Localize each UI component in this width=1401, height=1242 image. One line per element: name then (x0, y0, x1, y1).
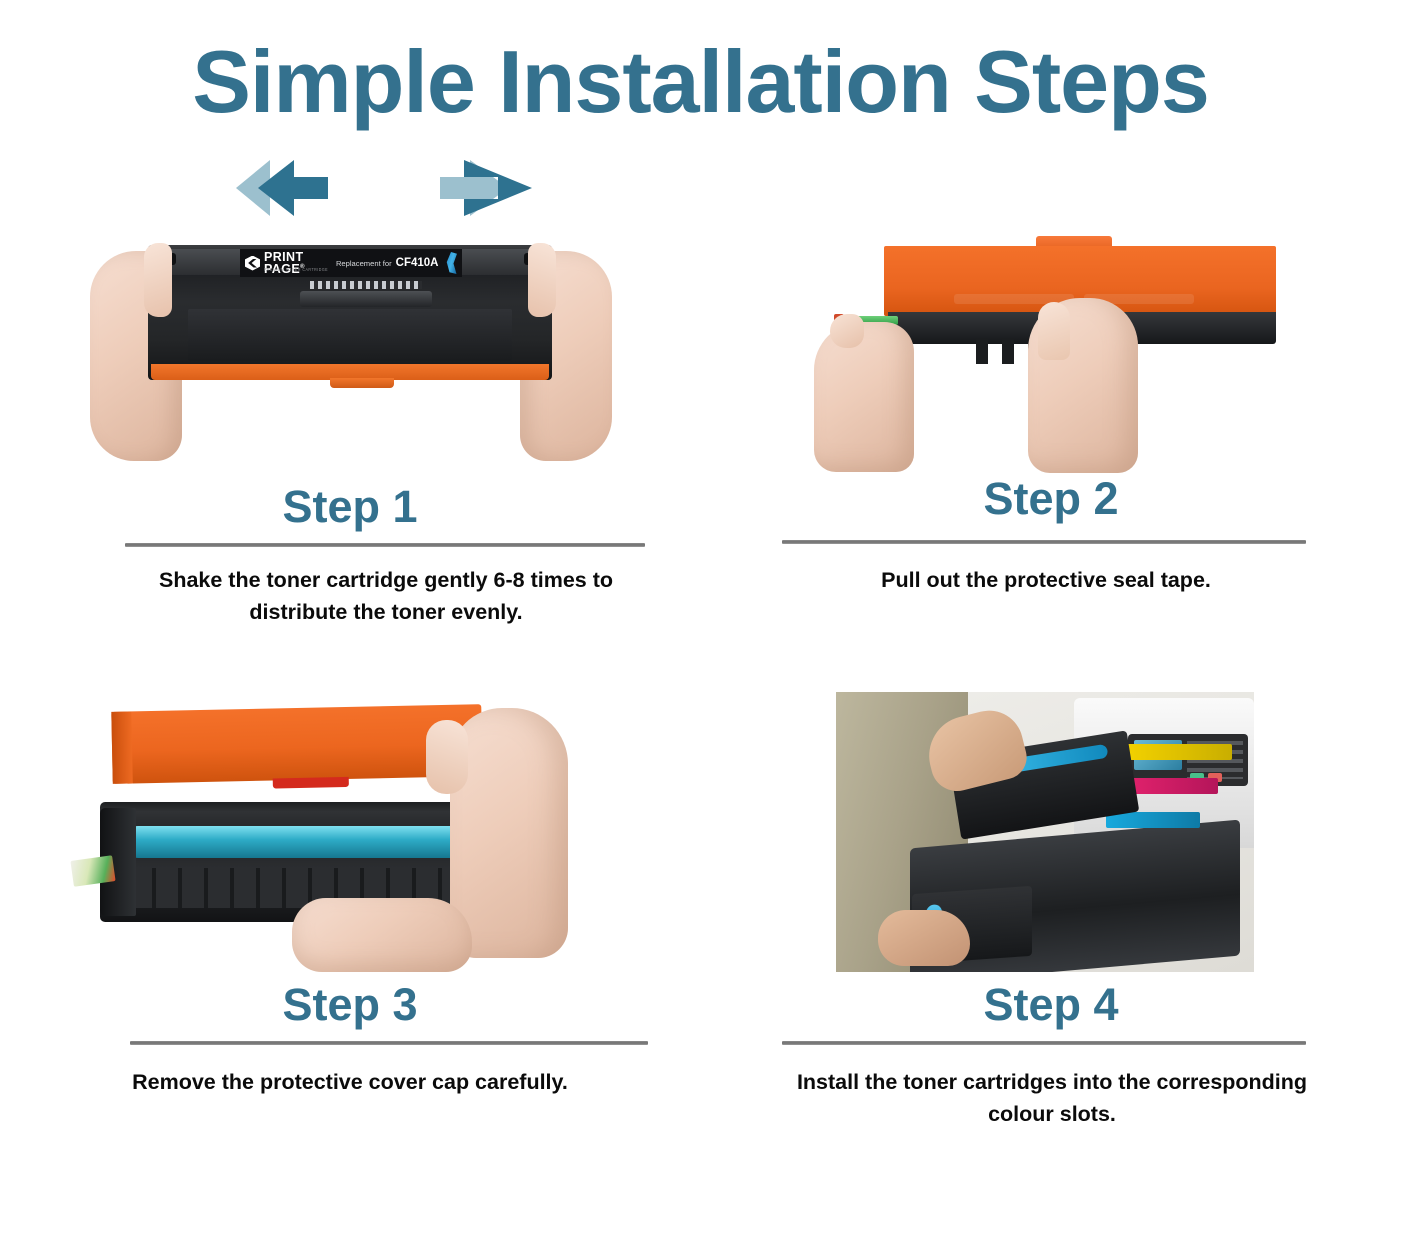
photo-install-into-printer (836, 692, 1254, 972)
step-2-divider (782, 540, 1306, 544)
yellow-cartridge-slot (1120, 744, 1232, 760)
page-title: Simple Installation Steps (0, 34, 1401, 129)
step-4-photo (701, 686, 1401, 978)
step-1-description: Shake the toner cartridge gently 6-8 tim… (130, 565, 642, 629)
right-thumb (528, 243, 556, 317)
print-page-logo-icon (245, 256, 260, 271)
step-1-photo: PRINT PAGE® Replacement for CF410A PREMI… (0, 210, 700, 480)
brand-subtitle: PREMIUM TONER CARTRIDGE (264, 268, 328, 273)
step-3-photo (0, 686, 700, 978)
cartridge-model: CF410A (396, 257, 439, 269)
step-1-divider (125, 543, 645, 547)
supporting-palm (292, 898, 472, 972)
cartridge-brand-label: PRINT PAGE® Replacement for CF410A PREMI… (240, 249, 462, 277)
technician-lower-hand (878, 910, 970, 966)
left-pinching-fingers (830, 314, 864, 348)
step-2-description: Pull out the protective seal tape. (761, 565, 1331, 597)
cyan-drum-roller (122, 826, 474, 858)
step-3-divider (130, 1041, 648, 1045)
step-3-title: Step 3 (0, 982, 700, 1027)
step-3-description: Remove the protective cover cap carefull… (50, 1067, 650, 1099)
step-4-title: Step 4 (701, 982, 1401, 1027)
left-hand (814, 322, 914, 472)
left-thumb (144, 243, 172, 317)
photo-pull-seal-tape (806, 218, 1306, 473)
step-card-2: Step 2 Pull out the protective seal tape… (701, 210, 1401, 680)
step-4-description: Install the toner cartridges into the co… (776, 1067, 1328, 1131)
right-arrow-icon (440, 160, 532, 216)
step-1-title: Step 1 (0, 484, 700, 529)
photo-remove-cover-cap (60, 692, 640, 972)
step-card-4: Step 4 Install the toner cartridges into… (701, 686, 1401, 1156)
cover-cap-red-tab (273, 777, 349, 789)
left-arrow-icon (236, 160, 328, 216)
toner-cartridge: PRINT PAGE® Replacement for CF410A PREMI… (148, 245, 552, 380)
right-index-finger (1038, 302, 1070, 360)
step-card-1: PRINT PAGE® Replacement for CF410A PREMI… (0, 210, 700, 680)
shake-motion-arrows (232, 158, 542, 218)
step-card-3: Step 3 Remove the protective cover cap c… (0, 686, 700, 1156)
steps-grid: PRINT PAGE® Replacement for CF410A PREMI… (0, 210, 1401, 1242)
step-2-photo (701, 210, 1401, 472)
photo-shake-cartridge: PRINT PAGE® Replacement for CF410A PREMI… (80, 225, 620, 473)
step-4-divider (782, 1041, 1306, 1045)
cartridge-roller (300, 291, 432, 307)
installation-steps-infographic: Simple Installation Steps (0, 0, 1401, 1242)
replacement-text: Replacement for (336, 259, 392, 268)
step-2-title: Step 2 (701, 476, 1401, 521)
cartridge-vent-strip (310, 281, 422, 289)
cartridge-orange-tab (330, 378, 394, 388)
gripping-fingers (426, 720, 468, 794)
cartridge-body (188, 309, 512, 361)
brand-wave-icon (444, 252, 457, 274)
cover-cap-lip (111, 711, 133, 783)
